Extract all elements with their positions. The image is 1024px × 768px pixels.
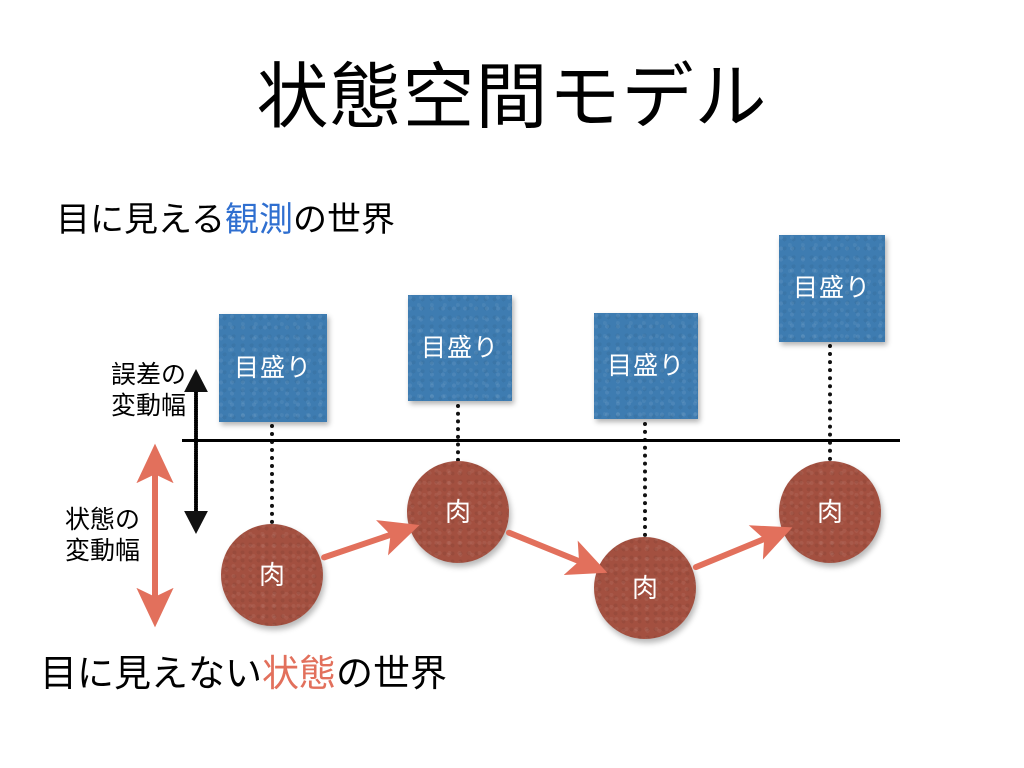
state-circle-label: 肉: [817, 499, 843, 525]
state-circle-2[interactable]: 肉: [407, 461, 509, 563]
observation-box-2[interactable]: 目盛り: [408, 295, 512, 401]
state-circle-1[interactable]: 肉: [221, 524, 323, 626]
observed-world-label: 目に見える観測の世界: [56, 203, 395, 237]
observation-state-connector-2: [456, 404, 460, 462]
hidden-world-accent: 状態: [262, 653, 336, 694]
hidden-world-suffix: の世界: [336, 653, 447, 694]
observation-box-3[interactable]: 目盛り: [594, 313, 698, 419]
state-range-label-line1: 状態の: [0, 505, 140, 536]
transition-arrow-3: [696, 535, 774, 567]
observation-state-connector-4: [828, 344, 832, 461]
state-circle-3[interactable]: 肉: [594, 537, 696, 639]
observed-world-prefix: 目に見える: [56, 201, 225, 239]
hidden-world-label: 目に見えない状態の世界: [40, 655, 447, 692]
state-circle-label: 肉: [445, 499, 471, 525]
observation-box-label: 目盛り: [793, 276, 871, 301]
state-transition-arrows: [324, 532, 773, 568]
state-range-label-line2: 変動幅: [0, 536, 140, 567]
error-range-label: 誤差の 変動幅: [0, 360, 186, 422]
observation-box-label: 目盛り: [607, 354, 685, 379]
state-range-label: 状態の 変動幅: [0, 505, 140, 567]
observation-box-label: 目盛り: [421, 336, 499, 361]
observation-box-4[interactable]: 目盛り: [779, 235, 885, 342]
hidden-world-prefix: 目に見えない: [40, 653, 262, 694]
slide-canvas: 状態空間モデル 目に見える観測の世界 目に見えない状態の世界 誤差の 変動幅 状…: [0, 0, 1024, 768]
error-range-label-line1: 誤差の: [0, 360, 186, 391]
state-circle-label: 肉: [259, 562, 285, 588]
transition-arrow-1: [324, 532, 400, 558]
error-range-label-line2: 変動幅: [0, 391, 186, 422]
transition-arrow-2: [509, 533, 589, 565]
state-circle-label: 肉: [632, 575, 658, 601]
observed-world-suffix: の世界: [293, 201, 395, 239]
page-title: 状態空間モデル: [0, 62, 1024, 134]
observed-world-accent: 観測: [225, 201, 293, 239]
observation-box-label: 目盛り: [234, 356, 312, 381]
world-boundary-line: [182, 439, 900, 442]
state-circle-4[interactable]: 肉: [779, 461, 881, 563]
observation-box-1[interactable]: 目盛り: [219, 314, 327, 422]
